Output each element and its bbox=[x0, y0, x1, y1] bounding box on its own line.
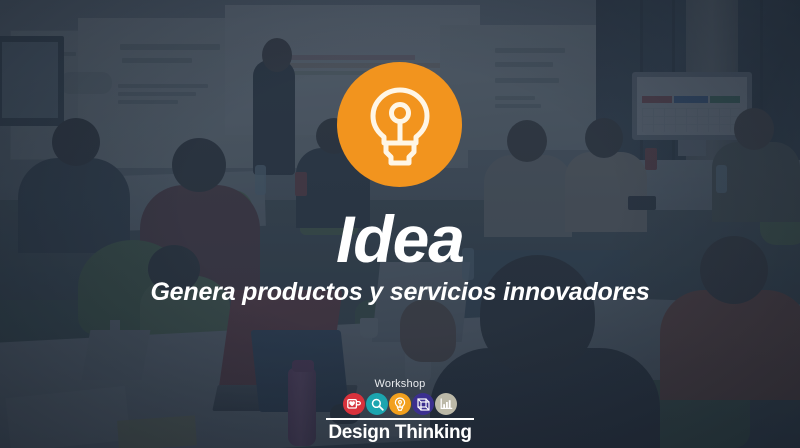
page-title: Idea bbox=[0, 206, 800, 272]
slide-root: Idea Genera productos y servicios innova… bbox=[0, 0, 800, 448]
logo-divider bbox=[326, 418, 474, 420]
ideate-lightbulb-icon[interactable] bbox=[389, 393, 411, 415]
prototype-cube-icon[interactable] bbox=[412, 393, 434, 415]
empathize-coffee-heart-icon[interactable] bbox=[343, 393, 365, 415]
logo-top-label: Workshop bbox=[320, 378, 480, 390]
test-barchart-icon[interactable] bbox=[435, 393, 457, 415]
design-thinking-logo: Workshop bbox=[320, 378, 480, 444]
hero-lightbulb-badge bbox=[337, 62, 462, 187]
lightbulb-icon bbox=[364, 84, 436, 166]
logo-bottom-label: Design Thinking bbox=[320, 422, 480, 444]
define-magnifier-icon[interactable] bbox=[366, 393, 388, 415]
page-subtitle: Genera productos y servicios innovadores bbox=[0, 278, 800, 307]
slide-content: Idea Genera productos y servicios innova… bbox=[0, 0, 800, 448]
stage-icon-row bbox=[320, 393, 480, 415]
